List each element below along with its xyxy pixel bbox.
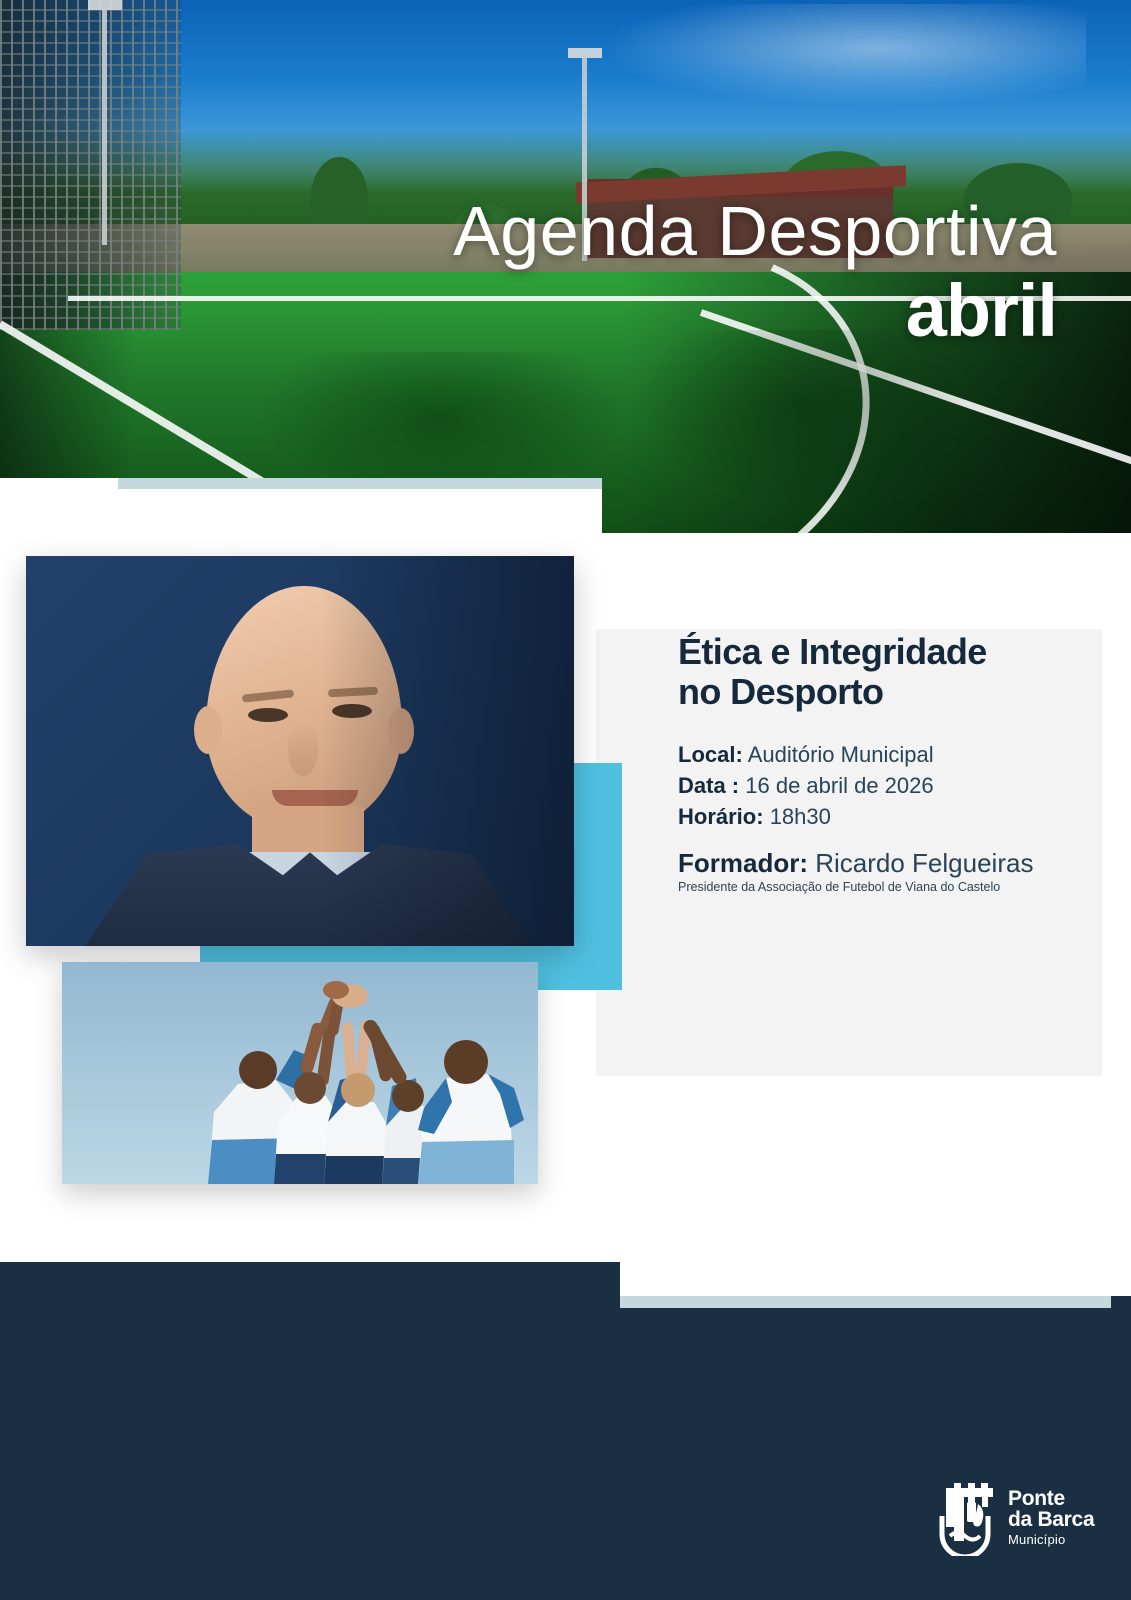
teal-accent-bar-top: [118, 478, 602, 489]
poster-title: Agenda Desportiva: [453, 196, 1057, 267]
logo-line-2: da Barca: [1008, 1509, 1094, 1530]
detail-value-local: Auditório Municipal: [748, 742, 934, 767]
detail-value-horario: 18h30: [770, 804, 831, 829]
portrait-nose: [288, 724, 318, 776]
event-text-block: Ética e Integridade no Desporto Local: A…: [678, 632, 1082, 894]
logo-line-1: Ponte: [1008, 1488, 1094, 1509]
detail-label-local: Local:: [678, 742, 743, 767]
hero-section: Agenda Desportiva abril: [0, 0, 1131, 533]
detail-label-horario: Horário:: [678, 804, 764, 829]
event-title-line2: no Desporto: [678, 672, 1082, 712]
detail-label-data: Data :: [678, 773, 739, 798]
event-details: Local: Auditório Municipal Data : 16 de …: [678, 739, 1082, 833]
teal-accent-bar-bottom: [620, 1296, 1111, 1308]
detail-value-data: 16 de abril de 2026: [745, 773, 933, 798]
portrait-eye-left: [248, 708, 288, 722]
detail-row-local: Local: Auditório Municipal: [678, 739, 1082, 770]
detail-row-horario: Horário: 18h30: [678, 801, 1082, 832]
detail-row-data: Data : 16 de abril de 2026: [678, 770, 1082, 801]
trainer-label: Formador:: [678, 848, 808, 878]
floodlight-pole-left: [102, 0, 107, 245]
hero-title-block: Agenda Desportiva abril: [453, 196, 1057, 349]
trainer-role: Presidente da Associação de Futebol de V…: [678, 880, 1082, 894]
logo-line-3: Município: [1008, 1533, 1094, 1546]
castle-tower-icon: [934, 1478, 996, 1556]
speaker-portrait-photo: [26, 556, 574, 946]
team-high-five-photo: [62, 962, 538, 1184]
poster-root: Agenda Desportiva abril: [0, 0, 1131, 1600]
event-title-line1: Ética e Integridade: [678, 631, 987, 672]
team-illustration: [62, 962, 538, 1184]
portrait-backdrop-shadow: [322, 556, 574, 946]
poster-month: abril: [453, 273, 1057, 348]
portrait-ear-left: [194, 706, 222, 754]
trainer-line: Formador: Ricardo Felgueiras: [678, 848, 1082, 879]
fence: [0, 0, 181, 330]
event-title: Ética e Integridade no Desporto: [678, 632, 1082, 713]
municipality-logo: Ponte da Barca Município: [934, 1478, 1094, 1556]
trainer-name: Ricardo Felgueiras: [815, 848, 1033, 878]
logo-wordmark: Ponte da Barca Município: [1008, 1488, 1094, 1546]
footer-block-left: [0, 1262, 620, 1600]
tree-shadow-right: [633, 330, 972, 511]
